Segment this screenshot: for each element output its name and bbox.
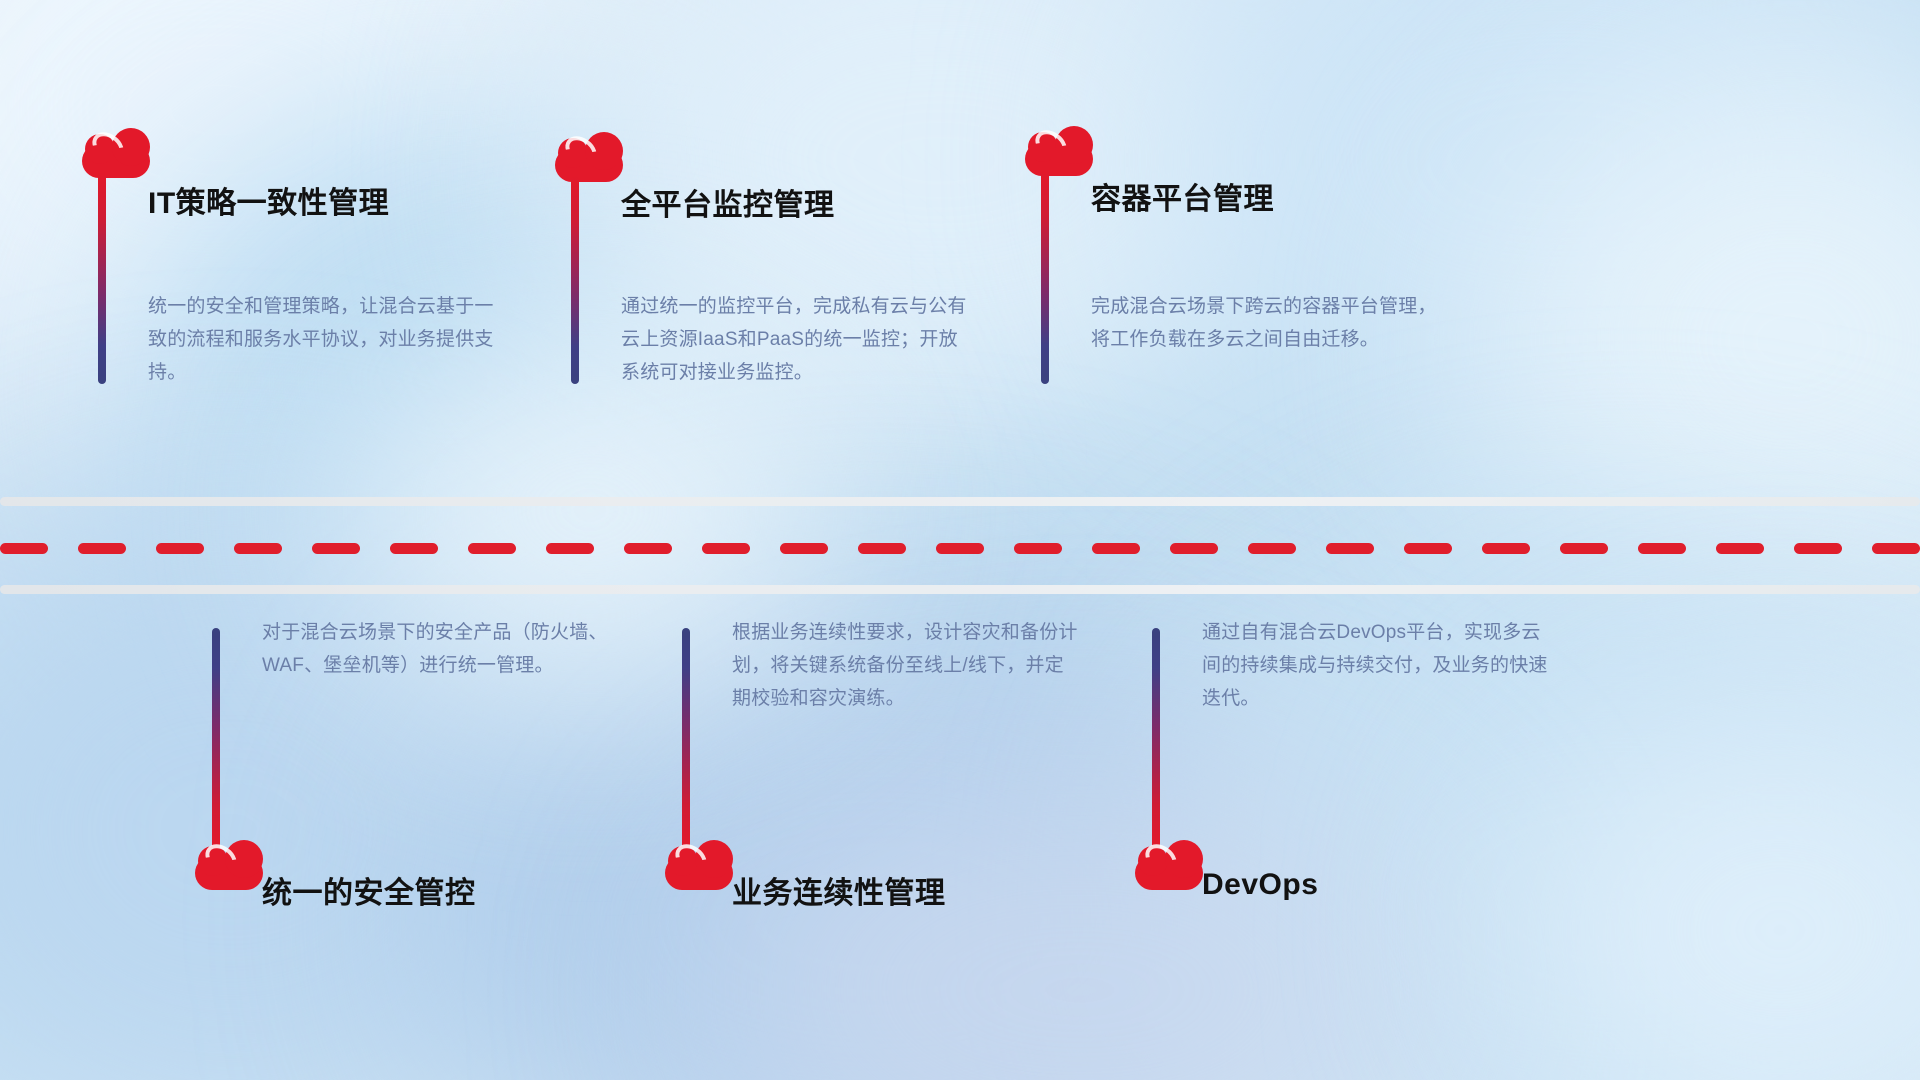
feature-card-devops: 通过自有混合云DevOps平台，实现多云间的持续集成与持续交付，及业务的快速迭代… [1130, 600, 1730, 1080]
divider-line-bottom [0, 585, 1920, 594]
divider-dash [1014, 543, 1062, 554]
feature-title: 全平台监控管理 [621, 180, 835, 224]
divider-dash [1170, 543, 1218, 554]
divider-dash [702, 543, 750, 554]
divider-dash [234, 543, 282, 554]
divider-line-top [0, 497, 1920, 506]
connector-stem [212, 628, 220, 850]
divider-dash [1794, 543, 1842, 554]
cloud-icon [1135, 840, 1203, 890]
connector-stem [682, 628, 690, 850]
cloud-icon [1025, 126, 1093, 176]
divider-dash [1326, 543, 1374, 554]
top-row: IT策略一致性管理 统一的安全和管理策略，让混合云基于一致的流程和服务水平协议，… [0, 0, 1920, 500]
connector-stem [571, 176, 579, 384]
feature-title: DevOps [1202, 868, 1318, 902]
cloud-icon [665, 840, 733, 890]
feature-title: IT策略一致性管理 [148, 178, 389, 222]
feature-body: 统一的安全和管理策略，让混合云基于一致的流程和服务水平协议，对业务提供支持。 [148, 290, 498, 389]
feature-title: 业务连续性管理 [732, 868, 946, 912]
feature-body: 根据业务连续性要求，设计容灾和备份计划，将关键系统备份至线上/线下，并定期校验和… [732, 616, 1082, 715]
divider-dash [1638, 543, 1686, 554]
divider-dash [0, 543, 48, 554]
feature-body: 通过自有混合云DevOps平台，实现多云间的持续集成与持续交付，及业务的快速迭代… [1202, 616, 1552, 715]
divider-dash [1482, 543, 1530, 554]
connector-stem [1041, 170, 1049, 384]
feature-title: 容器平台管理 [1091, 174, 1274, 218]
divider-dash [78, 543, 126, 554]
cloud-icon [195, 840, 263, 890]
divider-dash [1560, 543, 1608, 554]
connector-stem [1152, 628, 1160, 850]
feature-title: 统一的安全管控 [262, 868, 476, 912]
divider-dash [390, 543, 438, 554]
feature-card-it-policy: IT策略一致性管理 统一的安全和管理策略，让混合云基于一致的流程和服务水平协议，… [60, 0, 620, 500]
divider-dash [1248, 543, 1296, 554]
divider-dash [468, 543, 516, 554]
feature-body: 通过统一的监控平台，完成私有云与公有云上资源IaaS和PaaS的统一监控；开放系… [621, 290, 971, 389]
divider-dash [1404, 543, 1452, 554]
divider-dash [780, 543, 828, 554]
bottom-row: 对于混合云场景下的安全产品（防火墙、WAF、堡垒机等）进行统一管理。 统一的安全… [0, 600, 1920, 1080]
cloud-icon [82, 128, 150, 178]
cloud-icon [555, 132, 623, 182]
divider-dash [312, 543, 360, 554]
divider-dash [936, 543, 984, 554]
divider-dash [1092, 543, 1140, 554]
divider-dash [546, 543, 594, 554]
divider-dash [156, 543, 204, 554]
infographic-canvas: IT策略一致性管理 统一的安全和管理策略，让混合云基于一致的流程和服务水平协议，… [0, 0, 1920, 1080]
divider-dash [624, 543, 672, 554]
divider-dash [1716, 543, 1764, 554]
feature-body: 对于混合云场景下的安全产品（防火墙、WAF、堡垒机等）进行统一管理。 [262, 616, 612, 682]
feature-card-container-platform: 容器平台管理 完成混合云场景下跨云的容器平台管理，将工作负载在多云之间自由迁移。 [1010, 0, 1570, 500]
divider-dash [1872, 543, 1920, 554]
divider-dashed-line [0, 543, 1920, 554]
divider-dash [858, 543, 906, 554]
feature-body: 完成混合云场景下跨云的容器平台管理，将工作负载在多云之间自由迁移。 [1091, 290, 1441, 356]
connector-stem [98, 172, 106, 384]
